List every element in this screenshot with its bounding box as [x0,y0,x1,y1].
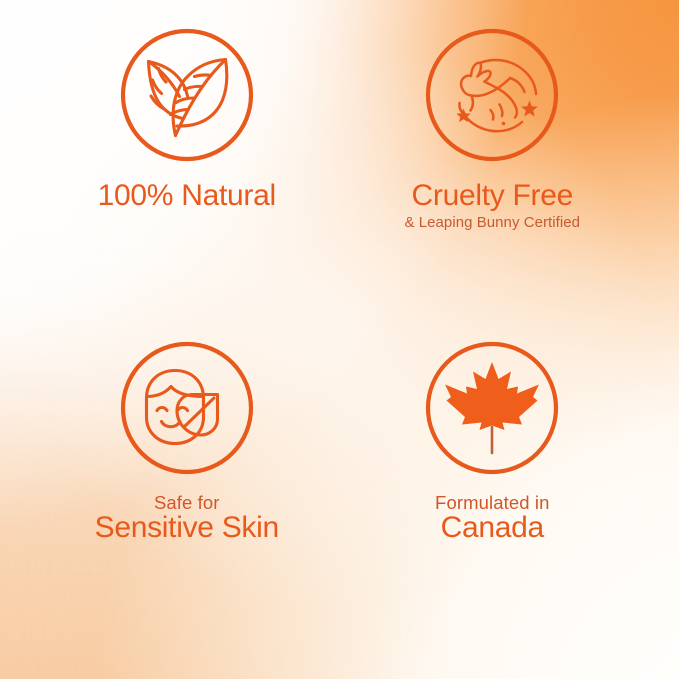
badge-sensitive-skin: Safe for Sensitive Skin [34,321,340,620]
badge-cruelty-free-text: Cruelty Free & Leaping Bunny Certified [404,181,580,230]
badge-canada-text: Formulated in Canada [435,494,549,544]
leaping-bunny-icon [419,22,565,168]
badge-canada-title: Canada [435,513,549,544]
badge-grid: 100% Natural [0,0,679,679]
smiling-face-leaf-icon [114,335,260,481]
badge-natural-text: 100% Natural [98,181,276,212]
leaf-icon [114,22,260,168]
product-trust-badges-panel: 100% Natural [0,0,679,679]
badge-sensitive-skin-text: Safe for Sensitive Skin [95,494,279,544]
badge-natural: 100% Natural [34,22,340,321]
badge-cruelty-free-title: Cruelty Free [404,181,580,212]
badge-natural-title: 100% Natural [98,181,276,212]
badge-canada: Formulated in Canada [340,321,646,620]
badge-sensitive-skin-title: Sensitive Skin [95,513,279,544]
badge-canada-eyebrow: Formulated in [435,494,549,513]
badge-sensitive-skin-eyebrow: Safe for [95,494,279,513]
maple-leaf-icon [419,335,565,481]
badge-cruelty-free: Cruelty Free & Leaping Bunny Certified [340,22,646,321]
badge-cruelty-free-subtitle: & Leaping Bunny Certified [404,215,580,230]
